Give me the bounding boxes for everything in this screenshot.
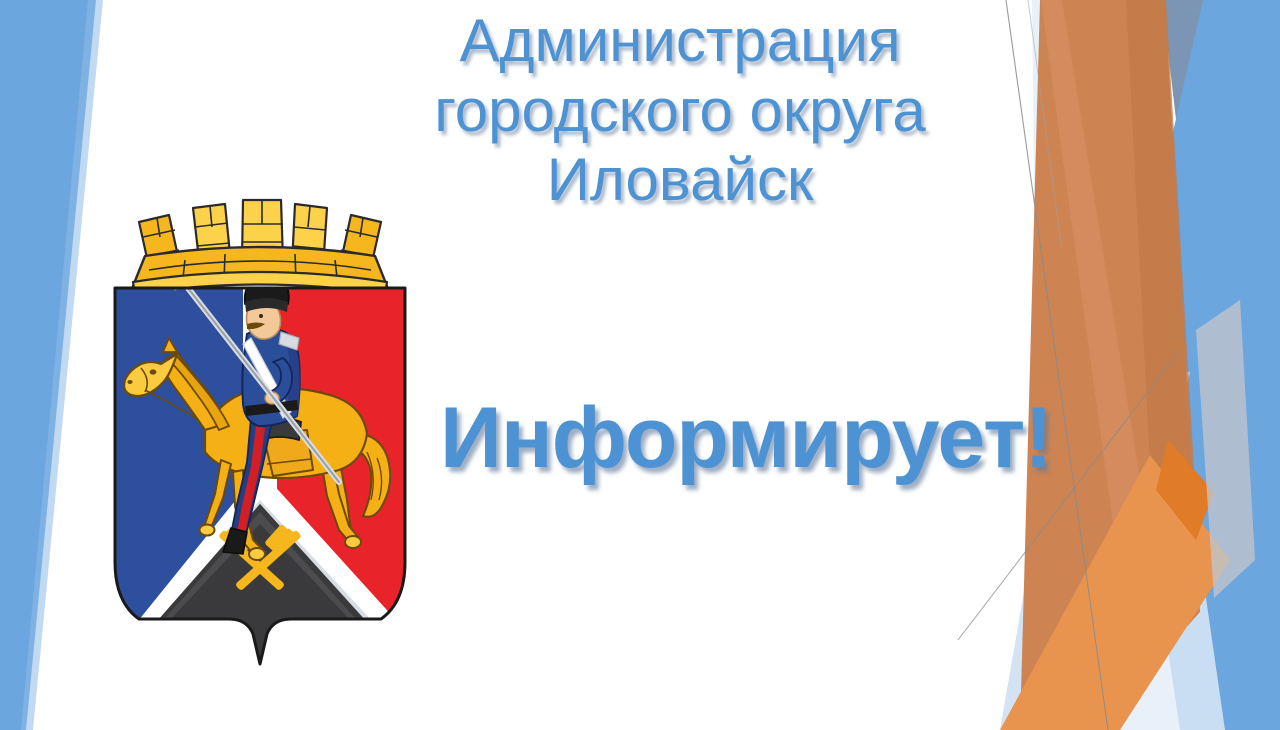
decor-orange-deep-accent <box>1156 440 1214 540</box>
headline-informs: Информирует! <box>440 395 1130 481</box>
decor-orange-light-lower <box>1000 455 1230 730</box>
headline-block: Информирует! <box>440 395 1130 481</box>
decor-left-blue-wedge-soft <box>21 0 103 730</box>
title-line-1: Администрация <box>330 6 1030 76</box>
decor-gray-sliver <box>1196 300 1255 598</box>
decor-right-blue-large <box>1096 0 1280 730</box>
decor-orange-band-main <box>1020 0 1200 730</box>
coat-of-arms-svg <box>95 182 425 672</box>
title-line-3: Иловайск <box>330 145 1030 215</box>
coat-of-arms-emblem <box>95 182 425 672</box>
decor-right-pale-fan-a <box>1018 0 1280 730</box>
slide-canvas: Администрация городского округа Иловайск… <box>0 0 1280 730</box>
decor-left-blue-wedge <box>0 0 96 730</box>
horse-eye <box>150 369 157 374</box>
decor-right-bluegray-band <box>1162 0 1280 306</box>
decor-orange-band-highlight <box>1041 0 1150 575</box>
decor-right-blue-mid <box>1152 130 1280 730</box>
decor-hairline-short <box>1028 0 1062 250</box>
page-title: Администрация городского округа Иловайск <box>330 6 1030 215</box>
decor-right-faint-blue-sheet <box>1032 0 1180 730</box>
decor-right-pale-blue-sheet <box>1049 0 1225 730</box>
shield <box>107 258 425 672</box>
title-line-2: городского округа <box>330 76 1030 146</box>
decor-orange-band-shade <box>1126 0 1202 660</box>
